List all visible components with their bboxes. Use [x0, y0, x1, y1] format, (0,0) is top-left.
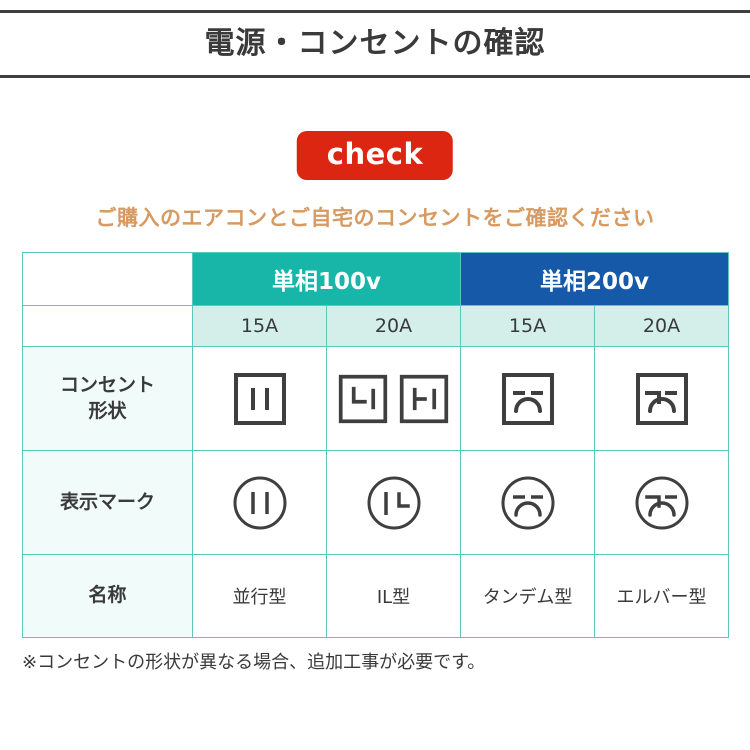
amperage-corner-cell	[23, 306, 193, 347]
amperage-100v-20a: 20A	[327, 306, 461, 347]
table-header-row-amperage: 15A 20A 15A 20A	[23, 306, 729, 347]
name-cell-100v-15a: 並行型	[193, 555, 327, 638]
outlet-spec-table: 単相100v 単相200v 15A 20A 15A 20A コンセント 形状	[22, 252, 729, 638]
name-cell-200v-20a: エルバー型	[595, 555, 729, 638]
row-label-name: 名称	[23, 555, 193, 638]
row-label-outlet-shape: コンセント 形状	[23, 347, 193, 451]
outlet-circle-elbow-icon	[595, 474, 728, 532]
header-group-100v: 単相100v	[193, 253, 461, 306]
mark-cell-100v-20a	[327, 451, 461, 555]
header-group-200v: 単相200v	[461, 253, 729, 306]
amperage-100v-15a: 15A	[193, 306, 327, 347]
row-label-display-mark: 表示マーク	[23, 451, 193, 555]
name-cell-200v-15a: タンデム型	[461, 555, 595, 638]
name-cell-100v-20a: IL型	[327, 555, 461, 638]
outlet-circle-tandem-icon	[461, 474, 594, 532]
table-corner-cell	[23, 253, 193, 306]
page-title: 電源・コンセントの確認	[205, 29, 546, 59]
shape-cell-100v-20a	[327, 347, 461, 451]
page-root: 電源・コンセントの確認 check ご購入のエアコンとご自宅のコンセントをご確認…	[0, 0, 750, 750]
mark-cell-200v-20a	[595, 451, 729, 555]
shape-cell-200v-20a	[595, 347, 729, 451]
table-row-outlet-shape: コンセント 形状	[23, 347, 729, 451]
outlet-square-elbow-icon	[595, 371, 728, 427]
shape-cell-200v-15a	[461, 347, 595, 451]
check-badge: check	[297, 131, 453, 180]
outlet-square-tandem-icon	[461, 371, 594, 427]
page-header: 電源・コンセントの確認	[0, 10, 750, 78]
table-header-row-voltage: 単相100v 単相200v	[23, 253, 729, 306]
outlet-square-parallel-icon	[193, 371, 326, 427]
footnote-text: ※コンセントの形状が異なる場合、追加工事が必要です。	[22, 648, 728, 674]
table-row-name: 名称 並行型 IL型 タンデム型 エルバー型	[23, 555, 729, 638]
row-label-outlet-shape-line2: 形状	[88, 400, 126, 422]
subtitle-text: ご購入のエアコンとご自宅のコンセントをご確認ください	[0, 202, 750, 232]
shape-cell-100v-15a	[193, 347, 327, 451]
row-label-outlet-shape-line1: コンセント	[60, 374, 155, 396]
outlet-circle-il-icon	[327, 474, 460, 532]
outlet-circle-parallel-icon	[193, 474, 326, 532]
outlet-square-il-pair-icon	[327, 373, 460, 425]
mark-cell-100v-15a	[193, 451, 327, 555]
amperage-200v-15a: 15A	[461, 306, 595, 347]
spec-table-wrapper: 単相100v 単相200v 15A 20A 15A 20A コンセント 形状	[22, 252, 728, 638]
mark-cell-200v-15a	[461, 451, 595, 555]
amperage-200v-20a: 20A	[595, 306, 729, 347]
table-row-display-mark: 表示マーク	[23, 451, 729, 555]
